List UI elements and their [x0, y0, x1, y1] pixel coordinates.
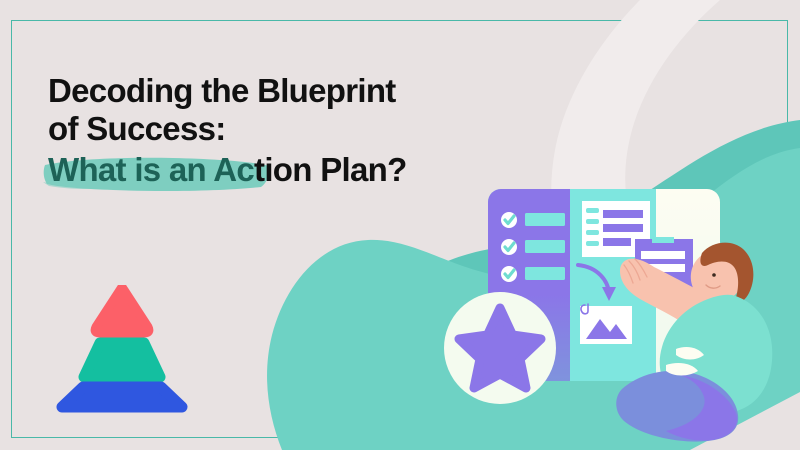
headline-line-3: What is an Action Plan?	[48, 151, 478, 189]
task-bar	[525, 213, 565, 226]
note-line	[603, 210, 643, 218]
three-tier-pyramid	[48, 285, 196, 413]
illustration-person-with-action-plan-board	[440, 175, 800, 450]
note-line	[603, 224, 643, 232]
headline-line-1: Decoding the Blueprint	[48, 72, 478, 110]
headline-line-3-rest: tion Plan?	[254, 151, 407, 188]
held-card-line	[641, 251, 685, 259]
headline-line-3-highlighted: What is an Ac	[48, 151, 254, 188]
checklist	[501, 212, 565, 282]
checklist-item	[501, 266, 565, 282]
pyramid-tier-top	[95, 287, 149, 333]
pyramid-tier-middle	[84, 343, 160, 377]
headline-line-2: of Success:	[48, 110, 478, 148]
task-bar	[525, 267, 565, 280]
task-bar	[525, 240, 565, 253]
pyramid-tier-bottom	[62, 387, 182, 407]
note-line	[603, 238, 631, 246]
star-badge	[444, 292, 556, 404]
checklist-item	[501, 239, 565, 255]
promo-banner: Decoding the Blueprint of Success: What …	[0, 0, 800, 450]
image-placeholder-card	[580, 304, 632, 344]
person-eye	[712, 273, 716, 277]
headline-block: Decoding the Blueprint of Success: What …	[48, 72, 478, 189]
checklist-item	[501, 212, 565, 228]
